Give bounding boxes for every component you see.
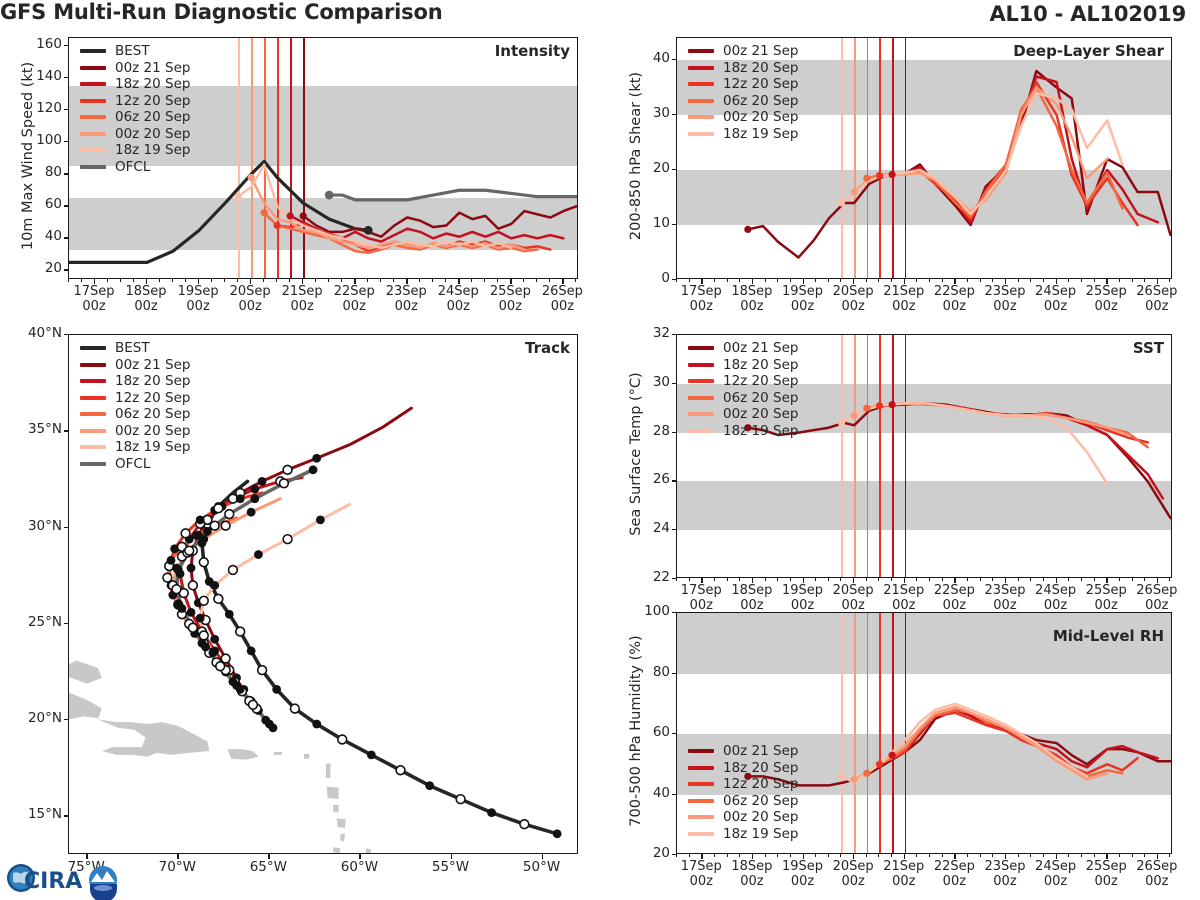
track-marker-00z — [232, 681, 241, 690]
legend-swatch — [80, 412, 106, 416]
legend-swatch — [688, 749, 714, 753]
legend-swatch — [80, 396, 106, 400]
legend-swatch — [80, 165, 106, 169]
tick-mark — [542, 854, 543, 859]
track-marker-12z — [249, 700, 258, 709]
legend-label: 06z 20 Sep — [115, 406, 190, 422]
track-marker-12z — [229, 566, 238, 575]
legend-item[interactable]: 06z 20 Sep — [688, 390, 798, 407]
legend-swatch — [80, 132, 106, 136]
legend-swatch — [80, 148, 106, 152]
legend-swatch — [80, 49, 106, 53]
track-x-tick: 55°W — [415, 860, 487, 876]
track-marker-12z — [214, 594, 223, 603]
legend-swatch — [688, 815, 714, 819]
track-y-tick: 15°N — [6, 806, 62, 822]
legend-swatch — [688, 832, 714, 836]
legend-label: 18z 19 Sep — [115, 142, 190, 158]
legend-item[interactable]: 00z 21 Sep — [80, 60, 190, 77]
sst-legend: 00z 21 Sep18z 20 Sep12z 20 Sep06z 20 Sep… — [688, 340, 798, 439]
legend-item[interactable]: 18z 19 Sep — [80, 439, 190, 456]
legend-label: 06z 20 Sep — [723, 390, 798, 406]
legend-label: 00z 21 Sep — [723, 43, 798, 59]
track-line — [200, 504, 349, 727]
legend-swatch — [80, 445, 106, 449]
track-marker-00z — [250, 485, 259, 494]
legend-item[interactable]: OFCL — [80, 159, 190, 176]
legend-label: 18z 19 Sep — [723, 423, 798, 439]
track-marker-12z — [199, 631, 208, 640]
legend-item[interactable]: 18z 19 Sep — [80, 142, 190, 159]
track-marker-12z — [520, 820, 529, 829]
tick-mark — [177, 854, 178, 859]
tick-mark — [64, 815, 69, 816]
track-marker-00z — [254, 550, 263, 559]
track-marker-00z — [247, 508, 256, 517]
legend-swatch — [80, 115, 106, 119]
legend-item[interactable]: 12z 20 Sep — [688, 776, 798, 793]
track-marker-12z — [283, 465, 292, 474]
legend-item[interactable]: 18z 20 Sep — [80, 76, 190, 93]
legend-label: OFCL — [115, 159, 150, 175]
legend-swatch — [80, 379, 106, 383]
shear-legend: 00z 21 Sep18z 20 Sep12z 20 Sep06z 20 Sep… — [688, 43, 798, 142]
tick-mark — [268, 854, 269, 859]
track-line — [202, 481, 557, 833]
track-marker-00z — [208, 648, 217, 657]
legend-swatch — [80, 429, 106, 433]
legend-item[interactable]: 00z 21 Sep — [688, 43, 798, 60]
legend-swatch — [80, 462, 106, 466]
rh-title: Mid-Level RH — [1053, 627, 1164, 645]
track-marker-12z — [214, 504, 223, 513]
track-marker-00z — [236, 494, 245, 503]
track-marker-00z — [174, 566, 183, 575]
legend-label: 18z 20 Sep — [723, 357, 798, 373]
legend-swatch — [688, 766, 714, 770]
track-marker-12z — [283, 535, 292, 544]
legend-label: OFCL — [115, 456, 150, 472]
cira-logo: CIRA — [4, 858, 124, 898]
track-marker-00z — [250, 494, 259, 503]
track-marker-12z — [236, 627, 245, 636]
track-marker-12z — [338, 735, 347, 744]
legend-label: 12z 20 Sep — [723, 776, 798, 792]
track-marker-00z — [187, 564, 196, 573]
track-marker-12z — [456, 795, 465, 804]
track-x-tick: 70°W — [141, 860, 213, 876]
legend-item[interactable]: 18z 20 Sep — [688, 760, 798, 777]
legend-label: 18z 20 Sep — [723, 760, 798, 776]
legend-swatch — [80, 346, 106, 350]
legend-swatch — [688, 99, 714, 103]
track-marker-00z — [203, 527, 212, 536]
track-marker-00z — [312, 454, 321, 463]
legend-swatch — [688, 115, 714, 119]
legend-label: 00z 20 Sep — [723, 406, 798, 422]
legend-item[interactable]: OFCL — [80, 456, 190, 473]
track-marker-12z — [210, 521, 219, 530]
legend-item[interactable]: 06z 20 Sep — [80, 109, 190, 126]
track-marker-00z — [316, 515, 325, 524]
legend-label: 12z 20 Sep — [723, 76, 798, 92]
tick-mark — [64, 334, 69, 335]
legend-item[interactable]: 12z 20 Sep — [80, 93, 190, 110]
track-marker-12z — [216, 662, 225, 671]
legend-label: 00z 20 Sep — [723, 809, 798, 825]
track-marker-12z — [188, 623, 197, 632]
legend-label: BEST — [115, 340, 150, 356]
legend-label: 00z 20 Sep — [115, 126, 190, 142]
legend-swatch — [688, 66, 714, 70]
track-x-tick: 50°W — [506, 860, 578, 876]
svg-text:CIRA: CIRA — [24, 869, 82, 894]
legend-item[interactable]: 18z 20 Sep — [688, 357, 798, 374]
legend-item[interactable]: 06z 20 Sep — [80, 406, 190, 423]
track-marker-00z — [553, 829, 562, 838]
track-marker-00z — [199, 535, 208, 544]
legend-swatch — [80, 363, 106, 367]
track-marker-00z — [367, 750, 376, 759]
track-x-tick: 65°W — [232, 860, 304, 876]
legend-item[interactable]: 12z 20 Sep — [688, 76, 798, 93]
legend-label: 18z 19 Sep — [115, 439, 190, 455]
sst-title: SST — [1133, 339, 1164, 357]
track-x-tick: 60°W — [323, 860, 395, 876]
track-line — [180, 478, 302, 690]
track-y-tick: 40°N — [6, 325, 62, 341]
track-marker-12z — [163, 573, 172, 582]
legend-label: 12z 20 Sep — [115, 93, 190, 109]
legend-item[interactable]: 06z 20 Sep — [688, 793, 798, 810]
shear-title: Deep-Layer Shear — [1013, 42, 1164, 60]
legend-swatch — [688, 429, 714, 433]
track-marker-00z — [167, 556, 176, 565]
tick-mark — [64, 623, 69, 624]
track-title: Track — [525, 339, 570, 357]
track-marker-00z — [425, 781, 434, 790]
track-y-tick: 20°N — [6, 710, 62, 726]
legend-item[interactable]: 00z 20 Sep — [80, 126, 190, 143]
legend-swatch — [688, 799, 714, 803]
legend-label: 18z 19 Sep — [723, 126, 798, 142]
legend-item[interactable]: 18z 20 Sep — [80, 373, 190, 390]
track-marker-12z — [221, 521, 230, 530]
legend-label: 00z 20 Sep — [723, 109, 798, 125]
legend-label: 06z 20 Sep — [723, 93, 798, 109]
legend-item[interactable]: BEST — [80, 340, 190, 357]
legend-swatch — [688, 396, 714, 400]
track-legend: BEST00z 21 Sep18z 20 Sep12z 20 Sep06z 20… — [80, 340, 190, 472]
legend-label: 12z 20 Sep — [723, 373, 798, 389]
tick-mark — [64, 527, 69, 528]
legend-item[interactable]: 00z 20 Sep — [80, 423, 190, 440]
tick-mark — [359, 854, 360, 859]
track-marker-00z — [201, 643, 210, 652]
legend-label: 00z 20 Sep — [115, 423, 190, 439]
legend-item[interactable]: 12z 20 Sep — [688, 373, 798, 390]
legend-label: 00z 21 Sep — [115, 357, 190, 373]
legend-item[interactable]: 18z 20 Sep — [688, 60, 798, 77]
legend-swatch — [688, 132, 714, 136]
track-marker-00z — [272, 685, 281, 694]
intensity-legend: BEST00z 21 Sep18z 20 Sep12z 20 Sep06z 20… — [80, 43, 190, 175]
legend-label: 18z 19 Sep — [723, 826, 798, 842]
tick-mark — [64, 719, 69, 720]
track-marker-12z — [258, 666, 267, 675]
legend-swatch — [688, 379, 714, 383]
track-marker-12z — [199, 558, 208, 567]
tick-mark — [451, 854, 452, 859]
legend-swatch — [688, 412, 714, 416]
legend-item[interactable]: 00z 21 Sep — [688, 743, 798, 760]
track-y-tick: 30°N — [6, 518, 62, 534]
track-marker-00z — [309, 465, 318, 474]
legend-swatch — [688, 363, 714, 367]
track-marker-12z — [185, 546, 194, 555]
legend-swatch — [688, 782, 714, 786]
legend-label: 00z 21 Sep — [115, 60, 190, 76]
legend-item[interactable]: 18z 19 Sep — [688, 826, 798, 843]
legend-swatch — [688, 346, 714, 350]
legend-label: 06z 20 Sep — [723, 793, 798, 809]
track-marker-12z — [181, 529, 190, 538]
legend-item[interactable]: 18z 19 Sep — [688, 126, 798, 143]
track-marker-00z — [265, 720, 274, 729]
track-line — [191, 408, 411, 678]
track-marker-00z — [196, 515, 205, 524]
track-y-tick: 25°N — [6, 614, 62, 630]
track-marker-12z — [225, 510, 234, 519]
legend-swatch — [688, 82, 714, 86]
legend-item[interactable]: 00z 20 Sep — [688, 109, 798, 126]
legend-item[interactable]: 00z 21 Sep — [688, 340, 798, 357]
track-marker-00z — [196, 614, 205, 623]
track-y-tick: 35°N — [6, 421, 62, 437]
intensity-title: Intensity — [495, 42, 570, 60]
track-marker-00z — [225, 610, 234, 619]
legend-item[interactable]: 18z 19 Sep — [688, 423, 798, 440]
track-marker-00z — [210, 581, 219, 590]
legend-label: BEST — [115, 43, 150, 59]
legend-swatch — [80, 99, 106, 103]
legend-label: 00z 21 Sep — [723, 340, 798, 356]
track-marker-12z — [172, 585, 181, 594]
track-marker-00z — [187, 608, 196, 617]
legend-label: 00z 21 Sep — [723, 743, 798, 759]
legend-label: 12z 20 Sep — [115, 390, 190, 406]
tick-mark — [64, 430, 69, 431]
legend-item[interactable]: 00z 20 Sep — [688, 406, 798, 423]
track-marker-00z — [312, 720, 321, 729]
legend-swatch — [80, 82, 106, 86]
legend-item[interactable]: 06z 20 Sep — [688, 93, 798, 110]
track-marker-12z — [396, 766, 405, 775]
legend-label: 18z 20 Sep — [115, 76, 190, 92]
legend-label: 18z 20 Sep — [115, 373, 190, 389]
legend-item[interactable]: 00z 21 Sep — [80, 357, 190, 374]
legend-item[interactable]: BEST — [80, 43, 190, 60]
rh-legend: 00z 21 Sep18z 20 Sep12z 20 Sep06z 20 Sep… — [688, 743, 798, 842]
legend-label: 06z 20 Sep — [115, 109, 190, 125]
track-marker-12z — [199, 596, 208, 605]
track-marker-12z — [280, 479, 289, 488]
legend-swatch — [80, 66, 106, 70]
track-marker-00z — [210, 635, 219, 644]
track-marker-00z — [487, 808, 496, 817]
track-marker-12z — [188, 581, 197, 590]
track-marker-00z — [258, 477, 267, 486]
legend-swatch — [688, 49, 714, 53]
legend-label: 18z 20 Sep — [723, 60, 798, 76]
track-marker-00z — [178, 604, 187, 613]
legend-item[interactable]: 12z 20 Sep — [80, 390, 190, 407]
track-marker-12z — [290, 704, 299, 713]
track-marker-00z — [247, 646, 256, 655]
legend-item[interactable]: 00z 20 Sep — [688, 809, 798, 826]
